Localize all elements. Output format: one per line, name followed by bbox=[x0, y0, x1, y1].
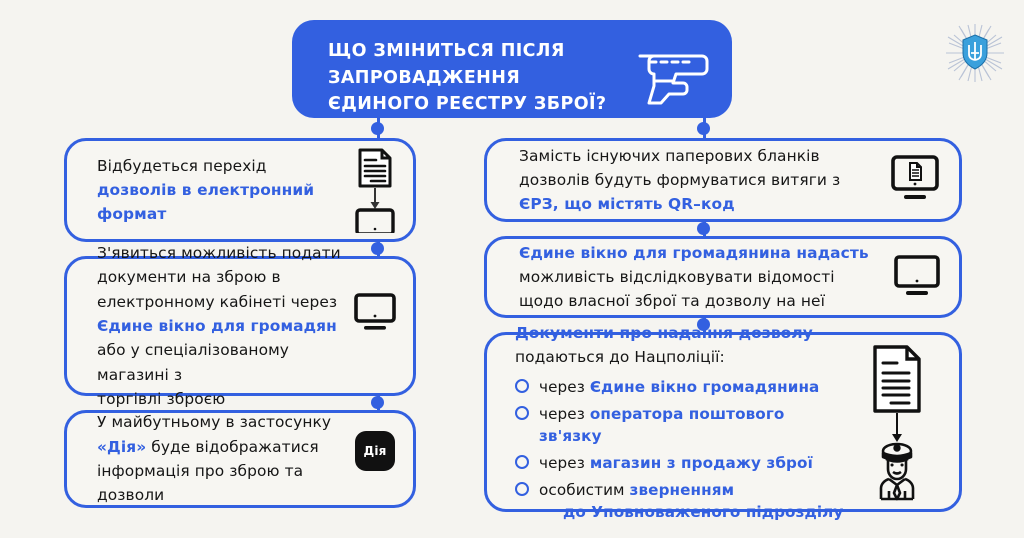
card-left-3-line-1: У майбутньому в застосунку bbox=[97, 413, 331, 431]
card-left-2-line-6: торгівлі зброєю bbox=[97, 390, 225, 408]
connector-dot-left-top bbox=[371, 122, 384, 135]
submission-channel-list: через Єдине вікно громадянина через опер… bbox=[515, 376, 851, 523]
card-right-3-icons bbox=[851, 343, 947, 503]
card-right-3-text: Документи про надання дозволу подаються … bbox=[515, 321, 851, 523]
card-right-1-line-2: дозволів будуть формуватися витяги з bbox=[519, 171, 840, 189]
card-left-2-line-4: Єдине вікно для громадян bbox=[97, 317, 337, 335]
card-right-1: Замість існуючих паперових бланків дозво… bbox=[484, 138, 962, 222]
card-left-3-line-2-suffix: буде відображатися bbox=[146, 438, 318, 456]
document-icon bbox=[875, 347, 919, 411]
card-right-3: Документи про надання дозволу подаються … bbox=[484, 332, 962, 512]
card-left-1-line-3: формат bbox=[97, 205, 166, 223]
diia-app-label: Дія bbox=[363, 444, 386, 458]
card-right-3-lead-plain: подаються до Нацполіції: bbox=[515, 348, 725, 366]
police-officer-icon bbox=[881, 444, 913, 499]
diia-app-icon: Дія bbox=[355, 431, 395, 471]
card-left-2-text: З'явиться можливість подати документи на… bbox=[97, 241, 351, 411]
card-left-1-line-1: Відбудеться перехід bbox=[97, 157, 267, 175]
card-right-1-icons bbox=[887, 154, 943, 206]
card-left-1-icons bbox=[351, 147, 399, 233]
bullet-circle-icon bbox=[515, 455, 529, 469]
card-right-3-lead-highlight: Документи про надання дозволу bbox=[515, 324, 813, 342]
card-right-2-line-2: можливість відслідковувати відомості bbox=[519, 268, 835, 286]
document-to-police-officer-icon bbox=[851, 343, 947, 503]
bullet-circle-icon bbox=[515, 379, 529, 393]
card-right-1-text: Замість існуючих паперових бланків дозво… bbox=[519, 144, 887, 217]
card-right-2-line-1: Єдине вікно для громадянина надасть bbox=[519, 244, 869, 262]
card-right-1-line-3: ЄРЗ, що містять QR–код bbox=[519, 195, 735, 213]
bullet-circle-icon bbox=[515, 406, 529, 420]
card-left-3-highlight: «Дія» bbox=[97, 438, 146, 456]
pistol-icon bbox=[630, 40, 714, 106]
bullet-text-1: через Єдине вікно громадянина bbox=[539, 376, 819, 398]
bullet-text-4: особистим зверненнямдо Уповноваженого пі… bbox=[539, 479, 843, 523]
header-banner: ЩО ЗМІНИТЬСЯ ПІСЛЯ ЗАПРОВАДЖЕННЯ ЄДИНОГО… bbox=[292, 20, 732, 118]
card-left-3-line-3: інформація про зброю та дозволи bbox=[97, 462, 303, 504]
page-title: ЩО ЗМІНИТЬСЯ ПІСЛЯ ЗАПРОВАДЖЕННЯ ЄДИНОГО… bbox=[328, 38, 606, 118]
bullet-text-2: через оператора поштового зв'язку bbox=[539, 403, 851, 447]
card-right-3-lead: Документи про надання дозволу подаються … bbox=[515, 321, 851, 370]
connector-dot-right-top bbox=[697, 122, 710, 135]
card-left-2-line-3: електронному кабінеті через bbox=[97, 293, 337, 311]
card-left-1-line-2: дозволів в електронний bbox=[97, 181, 314, 199]
arrow-down-icon bbox=[892, 413, 902, 442]
connector-dot-right-1-2 bbox=[697, 222, 710, 235]
list-item: через магазин з продажу зброї bbox=[515, 452, 851, 474]
list-item: особистим зверненнямдо Уповноваженого пі… bbox=[515, 479, 851, 523]
card-right-2-line-3: щодо власної зброї та дозволу на неї bbox=[519, 292, 825, 310]
document-icon bbox=[360, 150, 390, 186]
card-left-2-line-2: документи на зброю в bbox=[97, 268, 281, 286]
document-glyph bbox=[910, 163, 921, 180]
card-right-2-icons bbox=[891, 254, 943, 300]
list-item: через оператора поштового зв'язку bbox=[515, 403, 851, 447]
card-left-3: У майбутньому в застосунку «Дія» буде ві… bbox=[64, 410, 416, 508]
list-item: через Єдине вікно громадянина bbox=[515, 376, 851, 398]
card-left-2-icons bbox=[351, 292, 399, 334]
card-right-2: Єдине вікно для громадянина надасть можл… bbox=[484, 236, 962, 318]
card-left-2-line-1: З'явиться можливість подати bbox=[97, 244, 341, 262]
monitor-with-document-icon bbox=[887, 154, 943, 206]
bullet-text-3: через магазин з продажу зброї bbox=[539, 452, 813, 474]
card-left-2-line-5: або у спеціалізованому магазині з bbox=[97, 341, 289, 383]
card-left-3-icons: Дія bbox=[355, 431, 395, 471]
monitor-icon bbox=[891, 254, 943, 300]
card-left-3-text: У майбутньому в застосунку «Дія» буде ві… bbox=[97, 410, 355, 507]
card-left-1: Відбудеться перехід дозволів в електронн… bbox=[64, 138, 416, 242]
national-police-of-ukraine-emblem bbox=[944, 22, 1006, 84]
card-right-2-text: Єдине вікно для громадянина надасть можл… bbox=[519, 241, 891, 314]
monitor-icon bbox=[351, 292, 399, 334]
infographic-canvas: ЩО ЗМІНИТЬСЯ ПІСЛЯ ЗАПРОВАДЖЕННЯ ЄДИНОГО… bbox=[0, 0, 1024, 538]
document-to-monitor-icon bbox=[351, 147, 399, 233]
connector-dot-left-2-3 bbox=[371, 396, 384, 409]
bullet-circle-icon bbox=[515, 482, 529, 496]
monitor-icon bbox=[357, 210, 393, 233]
arrow-down-icon bbox=[371, 188, 380, 209]
connector-dot-left-1-2 bbox=[371, 242, 384, 255]
card-left-1-text: Відбудеться перехід дозволів в електронн… bbox=[97, 154, 351, 227]
card-right-1-line-1: Замість існуючих паперових бланків bbox=[519, 147, 820, 165]
card-left-2: З'явиться можливість подати документи на… bbox=[64, 256, 416, 396]
